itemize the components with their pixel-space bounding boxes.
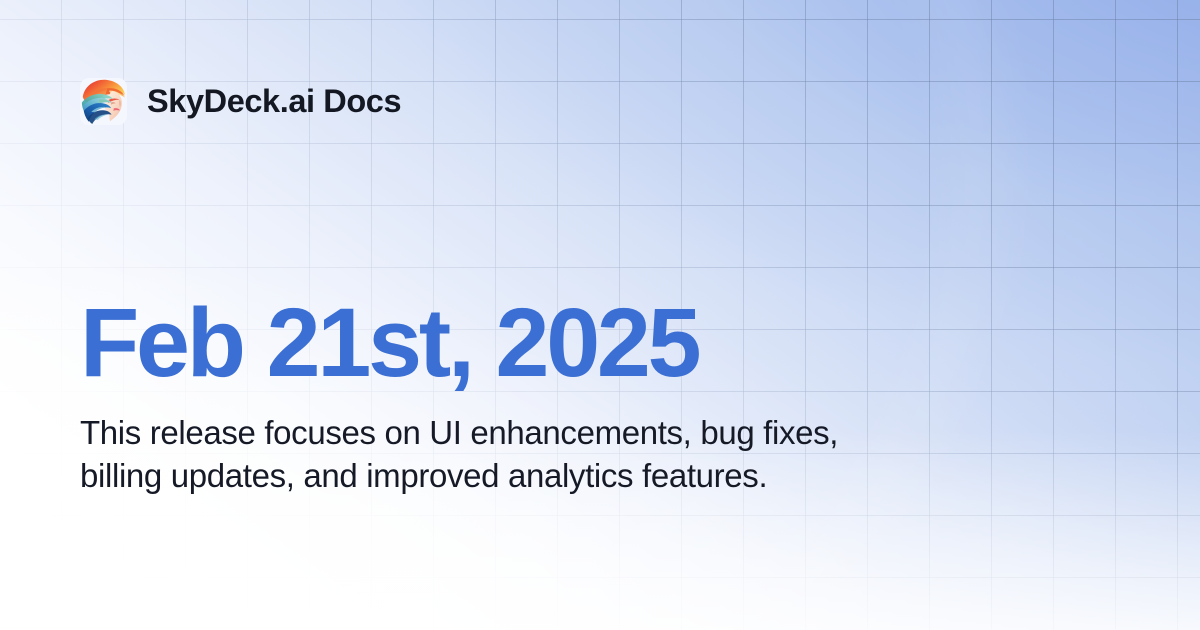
release-date-headline: Feb 21st, 2025 [80,296,860,389]
brand-title: SkyDeck.ai Docs [147,85,401,118]
brand-header: SkyDeck.ai Docs [80,78,401,125]
og-release-card: SkyDeck.ai Docs Feb 21st, 2025 This rele… [0,0,1200,630]
skydeck-face-wave-logo-icon [80,78,127,125]
release-summary-text: This release focuses on UI enhancements,… [80,411,840,497]
hero-content: Feb 21st, 2025 This release focuses on U… [80,296,860,497]
